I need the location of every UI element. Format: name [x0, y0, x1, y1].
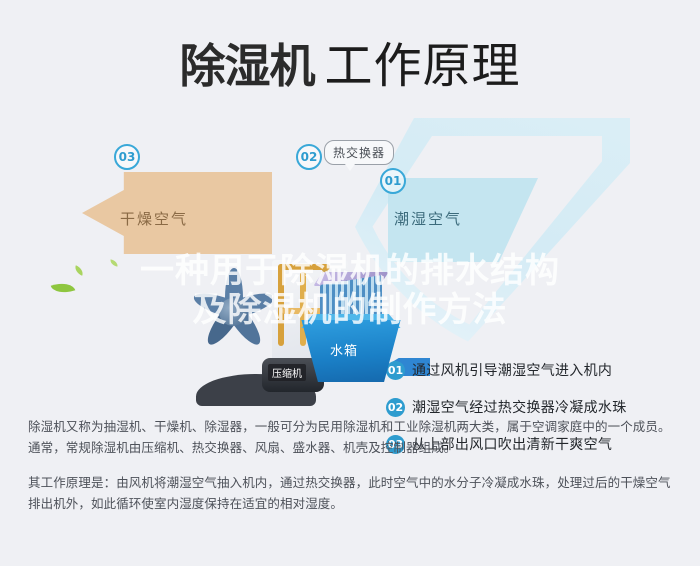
leaf-icon	[110, 259, 119, 266]
step-text: 潮湿空气经过热交换器冷凝成水珠	[412, 397, 627, 417]
leaf-icon	[73, 265, 85, 275]
heat-exchanger-callout: 热交换器	[324, 140, 394, 165]
humid-air-label: 潮湿空气	[394, 208, 462, 229]
body-paragraph-3: 其工作原理是：由风机将潮湿空气抽入机内，通过热交换器，此时空气中的水分子冷凝成水…	[28, 472, 678, 493]
leaf-icon	[51, 279, 76, 297]
diagram-badge-03: 03	[114, 144, 140, 170]
list-item: 02 潮湿空气经过热交换器冷凝成水珠	[386, 397, 686, 417]
diagram-badge-01: 01	[380, 168, 406, 194]
water-tank-label: 水箱	[330, 340, 358, 359]
body-paragraph-4: 排出机外，如此循环使室内湿度保持在适宜的相对湿度。	[28, 493, 678, 514]
body-paragraph-1: 除湿机又称为抽湿机、干燥机、除湿器，一般可分为民用除湿机和工业除湿机两大类，属于…	[28, 416, 678, 437]
coil-pipe-icon	[278, 264, 284, 346]
fan-icon	[185, 262, 281, 358]
coil-pipe-icon	[278, 264, 330, 270]
step-number-badge: 02	[386, 398, 405, 417]
dry-air-label: 干燥空气	[120, 208, 188, 229]
page-title-part-b: 工作原理	[324, 40, 520, 93]
page-title: 除湿机工作原理	[0, 26, 700, 96]
step-text: 通过风机引导潮湿空气进入机内	[412, 360, 612, 380]
body-paragraph-2: 通常，常规除湿机由压缩机、热交换器、风扇、盛水器、机壳及控制器组成。	[28, 437, 678, 458]
fan-hub-icon	[219, 298, 247, 326]
page-title-part-a: 除湿机	[179, 39, 314, 93]
list-item: 01 通过风机引导潮湿空气进入机内	[386, 360, 686, 380]
compressor-label: 压缩机	[268, 364, 306, 381]
article-body: 除湿机又称为抽湿机、干燥机、除湿器，一般可分为民用除湿机和工业除湿机两大类，属于…	[28, 416, 678, 514]
diagram-badge-02: 02	[296, 144, 322, 170]
